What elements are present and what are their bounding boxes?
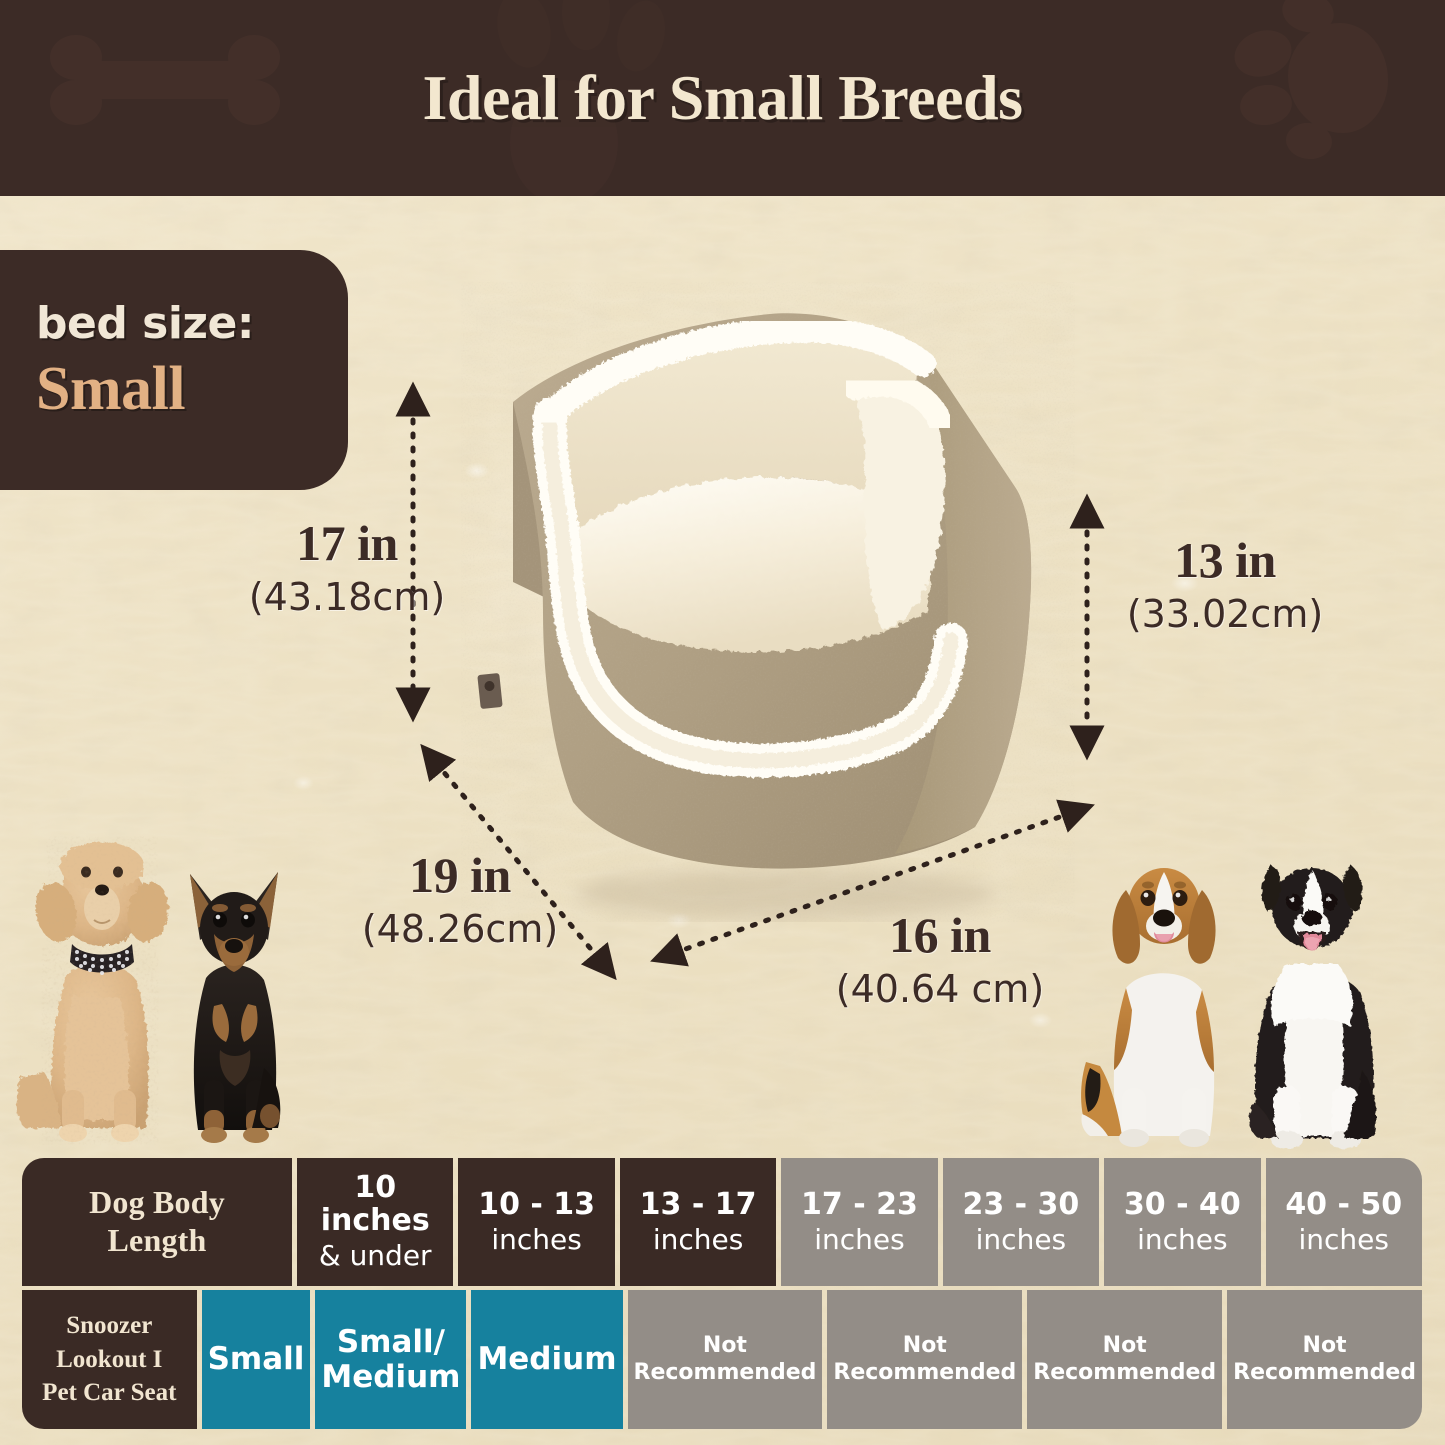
table-cell-recommendation-7: Not Recommended <box>1227 1290 1422 1429</box>
range-value: 10 inches <box>303 1171 447 1237</box>
dimension-value-cm: (43.18cm) <box>222 574 472 622</box>
recommendation-line2: Recommended <box>1033 1360 1216 1386</box>
recommendation-line1: Small <box>208 1342 305 1377</box>
range-unit: inches <box>653 1223 743 1257</box>
range-value: 23 - 30 <box>962 1188 1079 1221</box>
size-chart-table: Dog Body Length 10 inches & under 10 - 1… <box>22 1158 1422 1430</box>
recommendation-line1: Not <box>1103 1333 1147 1359</box>
dimension-value-inches: 19 in <box>330 850 590 900</box>
poodle-figure <box>17 842 173 1142</box>
dimension-value-cm: (40.64 cm) <box>805 966 1075 1014</box>
range-value: 30 - 40 <box>1124 1188 1241 1221</box>
table-header-col-1: 10 inches & under <box>297 1158 453 1286</box>
table-header-label-cell: Dog Body Length <box>22 1158 292 1286</box>
header-banner: Ideal for Small Breeds <box>0 0 1445 196</box>
row-label-line1: Snoozer Lookout I <box>28 1309 191 1377</box>
bed-size-value: Small <box>36 354 348 425</box>
page-title: Ideal for Small Breeds <box>0 0 1445 196</box>
table-row: Snoozer Lookout I Pet Car Seat Small Sma… <box>22 1290 1422 1429</box>
bed-size-badge: bed size: Small <box>0 250 348 490</box>
larger-breed-dogs <box>1078 830 1423 1160</box>
recommendation-line1: Not <box>703 1333 747 1359</box>
beagle-figure <box>1081 868 1215 1147</box>
recommendation-line2: Recommended <box>634 1360 817 1386</box>
recommendation-line2: Recommended <box>1233 1360 1416 1386</box>
range-value: 17 - 23 <box>801 1188 918 1221</box>
small-breed-dogs <box>14 828 314 1158</box>
recommendation-line2: Recommended <box>833 1360 1016 1386</box>
dimension-label-height-front: 17 in (43.18cm) <box>222 518 472 622</box>
recommendation-line1: Small/ <box>337 1325 445 1360</box>
range-unit: inches <box>491 1223 581 1257</box>
table-header-col-6: 30 - 40 inches <box>1104 1158 1260 1286</box>
range-value: 10 - 13 <box>478 1188 595 1221</box>
infographic-page: Ideal for Small Breeds <box>0 0 1445 1445</box>
dog-photos-left <box>14 828 314 1158</box>
dimension-label-depth: 19 in (48.26cm) <box>330 850 590 954</box>
range-unit: inches <box>1137 1223 1227 1257</box>
recommendation-line1: Not <box>1303 1333 1347 1359</box>
table-header-col-7: 40 - 50 inches <box>1266 1158 1422 1286</box>
dimension-value-inches: 13 in <box>1100 535 1350 585</box>
table-header-col-3: 13 - 17 inches <box>620 1158 776 1286</box>
dimension-value-inches: 17 in <box>222 518 472 568</box>
table-cell-recommendation-3: Medium <box>471 1290 622 1429</box>
table-header-col-4: 17 - 23 inches <box>781 1158 937 1286</box>
range-unit: inches <box>1299 1223 1389 1257</box>
range-unit: inches <box>814 1223 904 1257</box>
border-collie-figure <box>1249 866 1376 1149</box>
dimension-value-inches: 16 in <box>805 910 1075 960</box>
dimension-value-cm: (33.02cm) <box>1100 591 1350 639</box>
dimension-label-width: 16 in (40.64 cm) <box>805 910 1075 1014</box>
table-cell-recommendation-4: Not Recommended <box>628 1290 823 1429</box>
miniature-pinscher-figure <box>190 872 280 1143</box>
bed-size-label: bed size: <box>36 302 348 346</box>
table-header-col-2: 10 - 13 inches <box>458 1158 614 1286</box>
header-label-line1: Dog Body <box>89 1184 225 1222</box>
header-label-line2: Length <box>108 1222 207 1260</box>
range-unit: inches <box>976 1223 1066 1257</box>
table-header-row: Dog Body Length 10 inches & under 10 - 1… <box>22 1158 1422 1286</box>
dimension-label-height-back: 13 in (33.02cm) <box>1100 535 1350 639</box>
table-row-label-cell: Snoozer Lookout I Pet Car Seat <box>22 1290 197 1429</box>
dog-photos-right <box>1078 830 1423 1160</box>
recommendation-line1: Medium <box>477 1342 616 1377</box>
table-cell-recommendation-5: Not Recommended <box>827 1290 1022 1429</box>
recommendation-line1: Not <box>903 1333 947 1359</box>
pet-car-seat-illustration <box>455 282 1075 922</box>
table-cell-recommendation-6: Not Recommended <box>1027 1290 1222 1429</box>
recommendation-line2: Medium <box>321 1360 460 1395</box>
product-image <box>455 282 1075 922</box>
range-value: 13 - 17 <box>640 1188 757 1221</box>
range-unit: & under <box>319 1239 432 1273</box>
table-cell-recommendation-2: Small/ Medium <box>315 1290 466 1429</box>
table-header-col-5: 23 - 30 inches <box>943 1158 1099 1286</box>
range-value: 40 - 50 <box>1285 1188 1402 1221</box>
table-cell-recommendation-1: Small <box>202 1290 311 1429</box>
dimension-value-cm: (48.26cm) <box>330 906 590 954</box>
row-label-line2: Pet Car Seat <box>42 1376 176 1410</box>
